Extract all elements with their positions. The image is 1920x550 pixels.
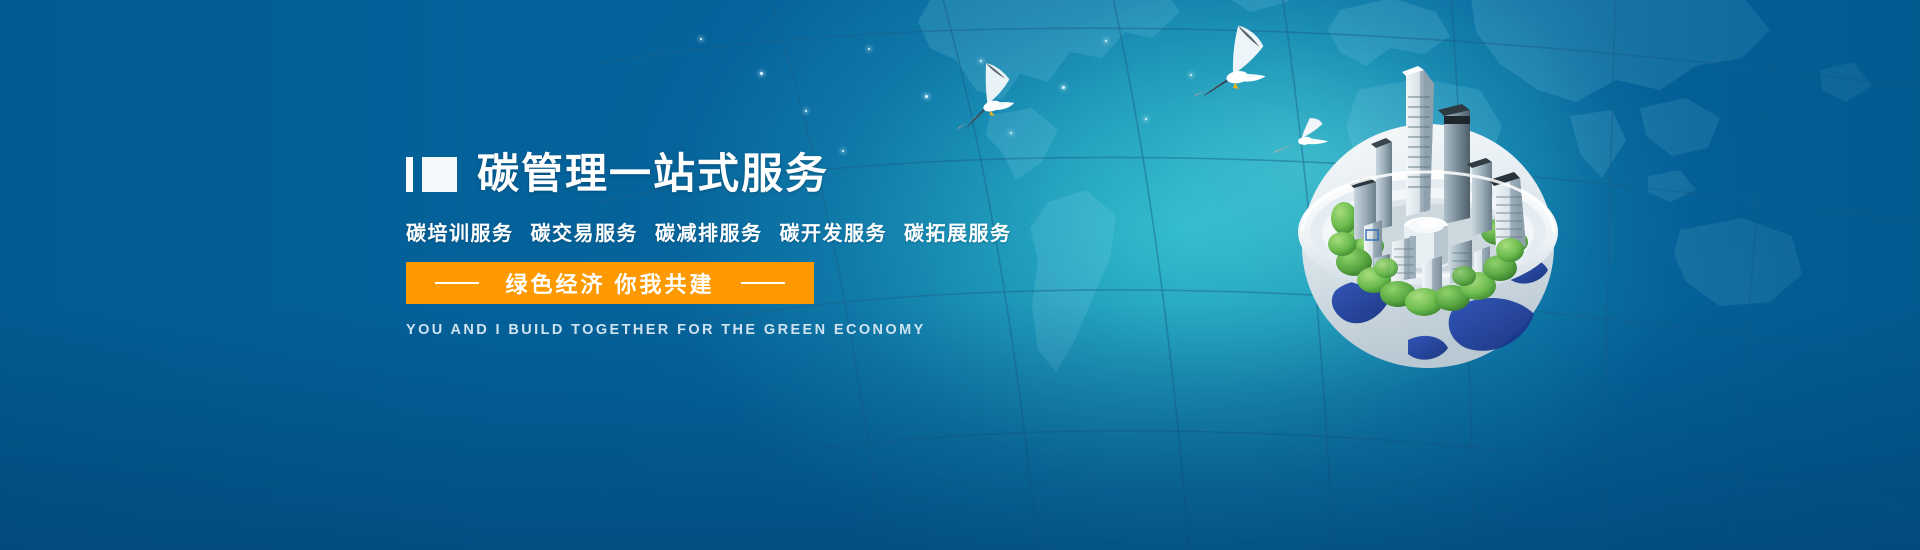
service-item-1[interactable]: 碳交易服务 [531, 217, 639, 246]
globe-city-illustration [1258, 40, 1598, 380]
dash-rule-left-icon [435, 282, 479, 284]
bar-square-mark-icon [406, 157, 457, 192]
slogan-text: 绿色经济 你我共建 [505, 267, 714, 299]
dash-rule-right-icon [741, 282, 785, 284]
service-list: 碳培训服务 碳交易服务 碳减排服务 碳开发服务 碳拓展服务 [406, 217, 1046, 246]
page-title: 碳管理一站式服务 [477, 153, 829, 195]
mark-bar-icon [406, 157, 413, 192]
title-row: 碳管理一站式服务 [406, 148, 1046, 200]
slogan-banner: 绿色经济 你我共建 [406, 262, 814, 304]
service-item-3[interactable]: 碳开发服务 [780, 217, 888, 246]
hero-banner: 碳管理一站式服务 碳培训服务 碳交易服务 碳减排服务 碳开发服务 碳拓展服务 绿… [0, 0, 1920, 550]
english-tagline: YOU AND I BUILD TOGETHER FOR THE GREEN E… [406, 322, 1046, 338]
service-item-4[interactable]: 碳拓展服务 [904, 217, 1012, 246]
service-item-0[interactable]: 碳培训服务 [406, 217, 514, 246]
service-item-2[interactable]: 碳减排服务 [655, 217, 763, 246]
hero-text-block: 碳管理一站式服务 碳培训服务 碳交易服务 碳减排服务 碳开发服务 碳拓展服务 绿… [406, 148, 1046, 338]
mark-square-icon [422, 157, 457, 192]
